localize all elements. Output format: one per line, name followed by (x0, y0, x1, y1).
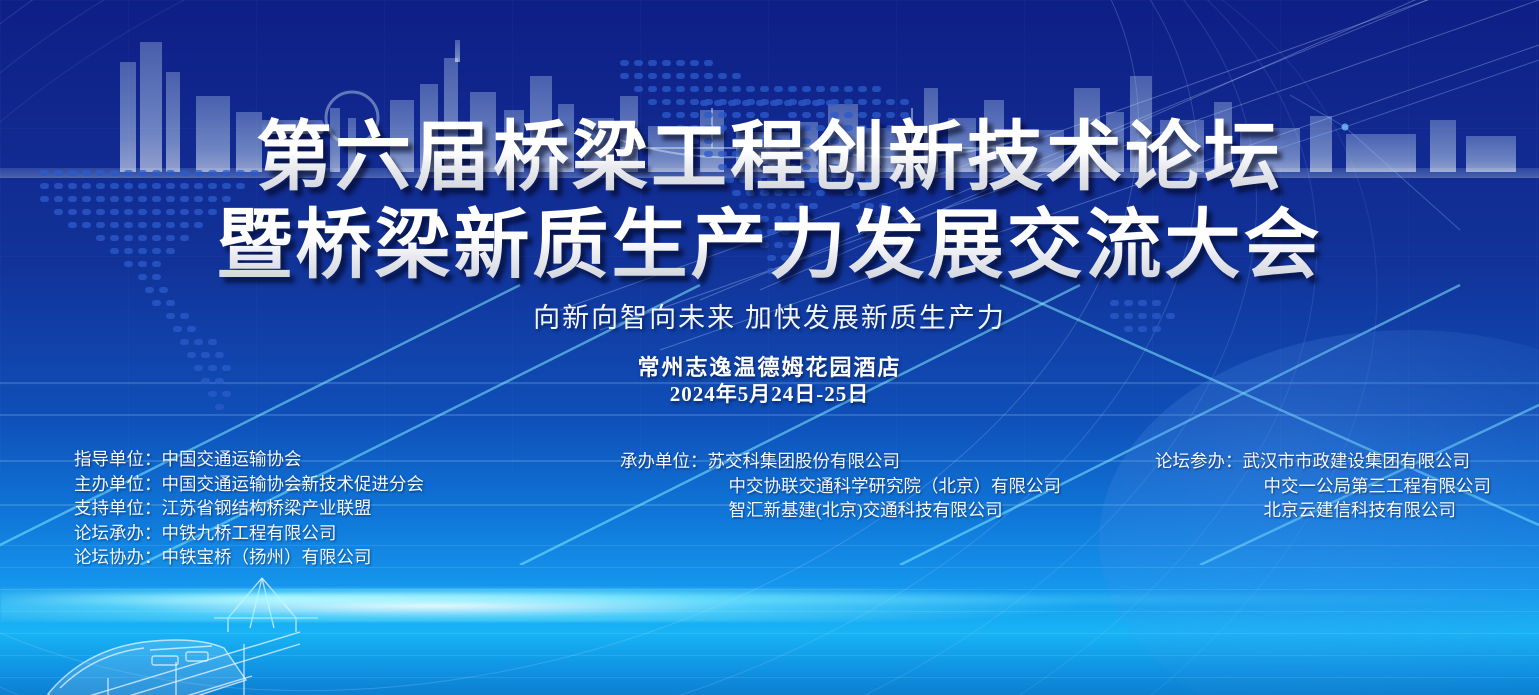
org-row: 承办单位：苏交科集团股份有限公司 (620, 449, 1061, 474)
conference-subtitle: 向新向智向未来 加快发展新质生产力 (0, 296, 1539, 335)
org-row: 支持单位：江苏省钢结构桥梁产业联盟 (74, 496, 424, 521)
org-label: 承办单位： (620, 449, 708, 474)
org-value: 中国交通运输协会 (162, 447, 302, 472)
org-row: 智汇新基建(北京)交通科技有限公司 (620, 498, 1061, 523)
org-label: 主办单位： (74, 472, 162, 497)
title-line-1: 第六届桥梁工程创新技术论坛 (0, 114, 1539, 202)
org-value: 中交一公局第三工程有限公司 (1155, 474, 1491, 499)
org-value: 中国交通运输协会新技术促进分会 (162, 472, 425, 497)
org-value: 武汉市市政建设集团有限公司 (1243, 449, 1471, 474)
org-row: 中交一公局第三工程有限公司 (1155, 474, 1491, 499)
org-label: 指导单位： (74, 447, 162, 472)
organizations-right-column: 论坛参办：武汉市市政建设集团有限公司 中交一公局第三工程有限公司 北京云建信科技… (1155, 449, 1491, 523)
org-value: 北京云建信科技有限公司 (1155, 498, 1456, 523)
org-row: 中交协联交通科学研究院（北京）有限公司 (620, 474, 1061, 499)
conference-banner: 第六届桥梁工程创新技术论坛 暨桥梁新质生产力发展交流大会 向新向智向未来 加快发… (0, 0, 1539, 695)
conference-date: 2024年5月24日-25日 (0, 378, 1539, 408)
org-value: 江苏省钢结构桥梁产业联盟 (162, 496, 372, 521)
org-value: 中铁宝桥（扬州）有限公司 (162, 545, 372, 570)
org-row: 指导单位：中国交通运输协会 (74, 447, 424, 472)
org-value: 中交协联交通科学研究院（北京）有限公司 (620, 474, 1061, 499)
org-row: 论坛承办：中铁九桥工程有限公司 (74, 521, 424, 546)
org-label: 论坛协办： (74, 545, 162, 570)
org-row: 论坛协办：中铁宝桥（扬州）有限公司 (74, 545, 424, 570)
title-line-2: 暨桥梁新质生产力发展交流大会 (0, 202, 1539, 290)
org-row: 北京云建信科技有限公司 (1155, 498, 1491, 523)
organizations-center-column: 承办单位：苏交科集团股份有限公司 中交协联交通科学研究院（北京）有限公司 智汇新… (620, 449, 1061, 523)
org-label: 论坛参办： (1155, 449, 1243, 474)
org-label: 支持单位： (74, 496, 162, 521)
org-label: 论坛承办： (74, 521, 162, 546)
org-value: 苏交科集团股份有限公司 (708, 449, 901, 474)
organizations-left-column: 指导单位：中国交通运输协会 主办单位：中国交通运输协会新技术促进分会 支持单位：… (74, 447, 424, 570)
conference-title: 第六届桥梁工程创新技术论坛 暨桥梁新质生产力发展交流大会 (0, 114, 1539, 290)
org-row: 论坛参办：武汉市市政建设集团有限公司 (1155, 449, 1491, 474)
org-value: 智汇新基建(北京)交通科技有限公司 (620, 498, 1003, 523)
organization-lists: 指导单位：中国交通运输协会 主办单位：中国交通运输协会新技术促进分会 支持单位：… (0, 443, 1539, 563)
org-row: 主办单位：中国交通运输协会新技术促进分会 (74, 472, 424, 497)
org-value: 中铁九桥工程有限公司 (162, 521, 337, 546)
